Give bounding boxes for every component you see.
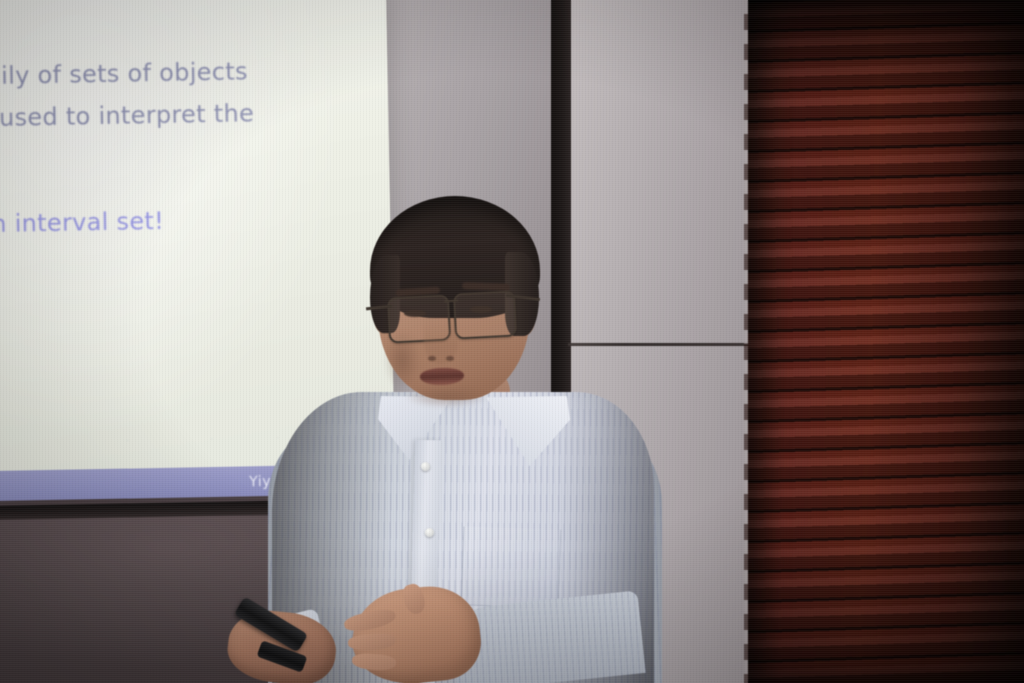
lecture-photo: mily of sets of objects s used to interp… bbox=[0, 0, 1024, 683]
shirt-chest-pocket bbox=[461, 526, 562, 608]
chin-shadow bbox=[404, 386, 488, 408]
shirt-button-2 bbox=[425, 528, 434, 537]
shirt-button-1 bbox=[421, 462, 430, 471]
nostril-left bbox=[428, 356, 436, 361]
nostril-right bbox=[446, 356, 454, 361]
eyeglasses-lens-right bbox=[453, 290, 517, 339]
presenter bbox=[0, 0, 1024, 683]
